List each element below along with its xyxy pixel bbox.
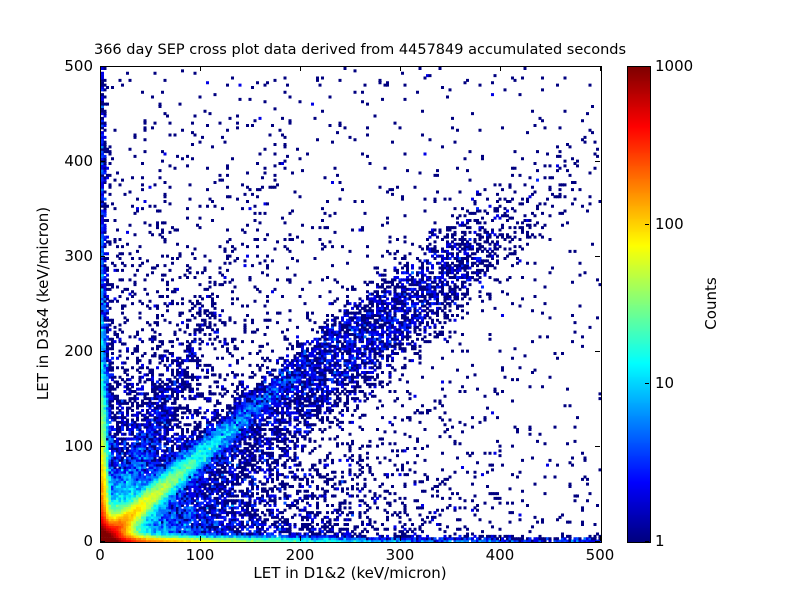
y-tick: [100, 351, 105, 352]
colorbar-gradient: [628, 67, 650, 542]
colorbar-tick-label: 1: [655, 532, 665, 550]
y-tick: [595, 161, 600, 162]
colorbar-tick-label: 100: [655, 215, 684, 233]
y-tick: [595, 541, 600, 542]
title-line-1: 366 day SEP cross plot data derived from…: [0, 42, 720, 59]
x-tick: [300, 536, 301, 541]
y-tick: [100, 256, 105, 257]
colorbar-label: Counts: [702, 66, 722, 541]
x-tick: [400, 66, 401, 71]
colorbar: [627, 66, 651, 543]
x-tick: [200, 66, 201, 71]
x-tick-label: 400: [486, 546, 515, 564]
x-tick-label: 300: [386, 546, 415, 564]
colorbar-tick: [645, 66, 649, 67]
colorbar-tick: [645, 224, 649, 225]
y-tick: [595, 66, 600, 67]
x-tick: [200, 536, 201, 541]
y-tick: [100, 446, 105, 447]
plot-area: [100, 66, 602, 543]
colorbar-tick-label: 10: [655, 374, 674, 392]
x-tick-label: 100: [186, 546, 215, 564]
x-tick: [600, 536, 601, 541]
x-axis-label: LET in D1&2 (keV/micron): [100, 564, 600, 582]
x-tick-label: 200: [286, 546, 315, 564]
x-tick: [500, 66, 501, 71]
x-tick: [500, 536, 501, 541]
colorbar-tick: [645, 383, 649, 384]
x-tick-label: 0: [95, 546, 105, 564]
y-axis-label: LET in D3&4 (keV/micron): [34, 66, 54, 541]
x-tick-label: 500: [586, 546, 615, 564]
colorbar-tick-label: 1000: [655, 57, 693, 75]
y-tick: [100, 541, 105, 542]
y-tick: [100, 161, 105, 162]
colorbar-tick: [645, 541, 649, 542]
y-tick: [595, 256, 600, 257]
figure-canvas: 366 day SEP cross plot data derived from…: [0, 0, 800, 600]
y-tick: [100, 66, 105, 67]
density-heatmap: [101, 67, 601, 542]
y-tick: [595, 446, 600, 447]
x-tick: [300, 66, 301, 71]
y-tick: [595, 351, 600, 352]
x-tick: [600, 66, 601, 71]
x-tick: [400, 536, 401, 541]
